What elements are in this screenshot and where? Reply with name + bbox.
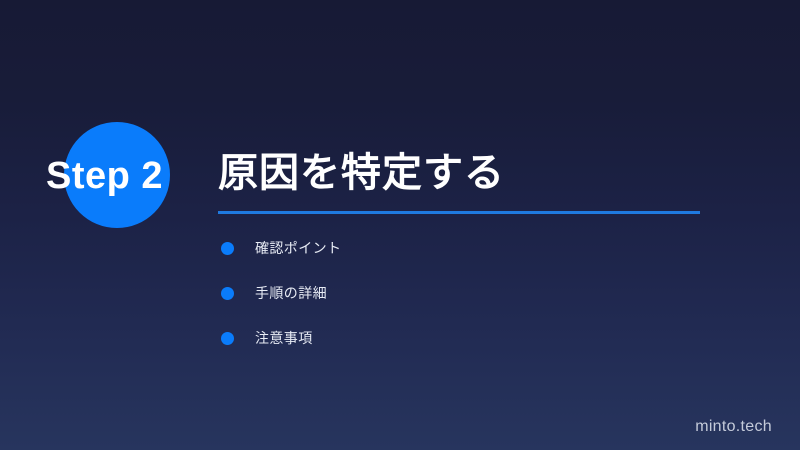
list-item: 注意事項 (221, 328, 341, 348)
slide-title: 原因を特定する (218, 148, 505, 198)
bullet-list: 確認ポイント 手順の詳細 注意事項 (221, 238, 341, 373)
bullet-dot-icon (221, 287, 234, 300)
bullet-dot-icon (221, 332, 234, 345)
bullet-item-label: 手順の詳細 (255, 283, 327, 303)
watermark-label: minto.tech (695, 418, 772, 436)
bullet-item-label: 確認ポイント (255, 238, 341, 258)
bullet-dot-icon (221, 242, 234, 255)
list-item: 手順の詳細 (221, 283, 341, 303)
presentation-slide: Step 2 原因を特定する 確認ポイント 手順の詳細 注意事項 minto.t… (0, 0, 800, 450)
step-number-label: Step 2 (46, 152, 206, 200)
list-item: 確認ポイント (221, 238, 341, 258)
title-underline-rule (218, 211, 700, 214)
bullet-item-label: 注意事項 (255, 328, 313, 348)
